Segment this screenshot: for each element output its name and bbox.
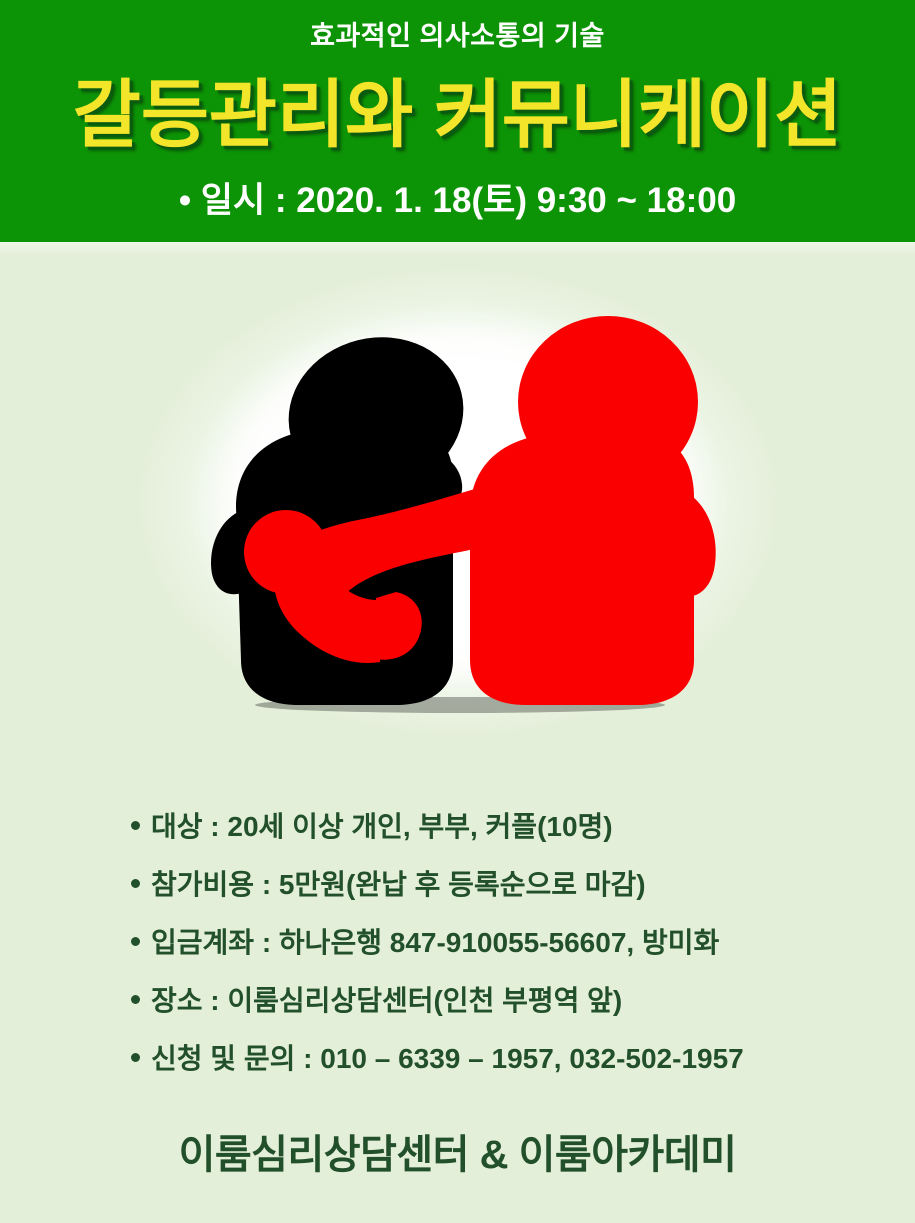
two-people-hug-pictogram — [108, 262, 808, 752]
header-fade-strip — [0, 242, 915, 256]
list-item: 대상 : 20세 이상 개인, 부부, 커플(10명) — [0, 798, 915, 856]
bullet-dot-icon — [131, 879, 140, 888]
list-item-text: 참가비용 : 5만원(완납 후 등록순으로 마감) — [151, 856, 646, 914]
list-item: 신청 및 문의 : 010 – 6339 – 1957, 032-502-195… — [0, 1030, 915, 1088]
bullet-dot-icon — [131, 821, 140, 830]
bullet-dot-icon — [131, 937, 140, 946]
poster-kicker: 효과적인 의사소통의 기술 — [0, 22, 915, 52]
list-item-text: 입금계좌 : 하나은행 847-910055-56607, 방미화 — [151, 914, 719, 972]
list-item-text: 장소 : 이룸심리상담센터(인천 부평역 앞) — [151, 972, 622, 1030]
list-item-text: 신청 및 문의 : 010 – 6339 – 1957, 032-502-195… — [151, 1030, 744, 1088]
list-item: 장소 : 이룸심리상담센터(인천 부평역 앞) — [0, 972, 915, 1030]
list-item: 입금계좌 : 하나은행 847-910055-56607, 방미화 — [0, 914, 915, 972]
illustration — [108, 262, 808, 752]
info-list: 대상 : 20세 이상 개인, 부부, 커플(10명) 참가비용 : 5만원(완… — [0, 798, 915, 1088]
organization-footer: 이룸심리상담센터 & 이룸아카데미 — [0, 1122, 915, 1180]
bullet-dot-icon — [131, 1053, 140, 1062]
seminar-poster: 효과적인 의사소통의 기술 갈등관리와 커뮤니케이션 • 일시 : 2020. … — [0, 0, 915, 1223]
list-item-text: 대상 : 20세 이상 개인, 부부, 커플(10명) — [151, 798, 613, 856]
event-date-line: • 일시 : 2020. 1. 18(토) 9:30 ~ 18:00 — [0, 182, 915, 221]
red-figure-hand — [244, 510, 328, 594]
list-item: 참가비용 : 5만원(완납 후 등록순으로 마감) — [0, 856, 915, 914]
bullet-dot-icon — [131, 995, 140, 1004]
page-title: 갈등관리와 커뮤니케이션 — [0, 76, 915, 154]
